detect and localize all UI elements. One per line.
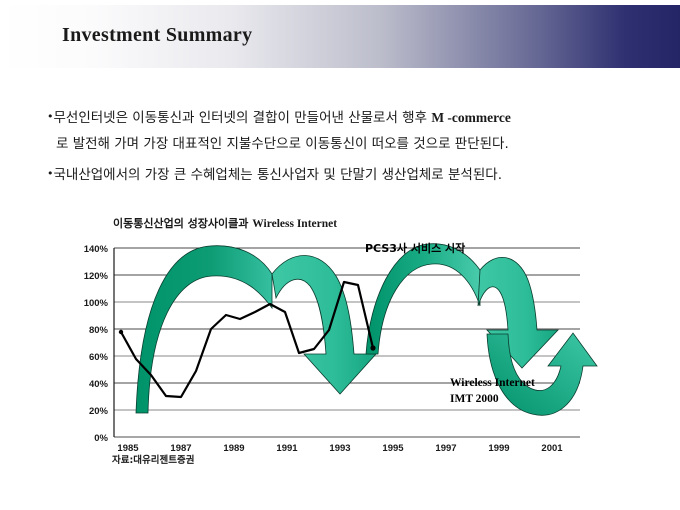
chart-y-tick-labels: 140% 120% 100% 80% 60% 40% 20% 0% (84, 244, 109, 444)
y-tick-label: 80% (89, 325, 109, 336)
x-tick-label: 1993 (329, 443, 350, 454)
y-tick-label: 40% (89, 379, 109, 390)
bullet-item: •무선인터넷은 이동통신과 인터넷의 결합이 만들어낸 산물로서 행후 M -c… (47, 104, 647, 157)
y-tick-label: 0% (94, 433, 108, 444)
y-tick-label: 20% (89, 406, 109, 417)
growth-cycle-chart: 140% 120% 100% 80% 60% 40% 20% 0% (0, 208, 680, 478)
growth-arrow-up-2 (366, 244, 480, 354)
y-tick-label: 100% (84, 298, 109, 309)
x-tick-label: 1991 (276, 443, 298, 454)
x-tick-label: 1989 (223, 443, 244, 454)
annotation-imt2000: IMT 2000 (450, 393, 499, 405)
x-tick-label: 1995 (382, 443, 404, 454)
annotation-pcs3: PCS3사 서비스 시작 (365, 241, 465, 255)
y-tick-label: 120% (84, 271, 109, 282)
chart-block: 이동통신산업의 성장사이클과 Wireless Internet (0, 208, 680, 478)
bullet-list: •무선인터넷은 이동통신과 인터넷의 결합이 만들어낸 산물로서 행후 M -c… (47, 104, 647, 192)
x-tick-label: 1997 (435, 443, 456, 454)
y-tick-label: 140% (84, 244, 109, 255)
line-start-point (119, 330, 123, 334)
bullet-item: •국내산업에서의 가장 큰 수혜업체는 통신사업자 및 단말기 생산업체로 분석… (47, 161, 647, 188)
x-tick-label: 2001 (541, 443, 563, 454)
page-title: Investment Summary (62, 24, 252, 47)
bullet-text-line1: 무선인터넷은 이동통신과 인터넷의 결합이 만들어낸 산물로서 행후 (54, 110, 432, 126)
growth-arrow-down-1 (272, 255, 376, 394)
line-end-point (370, 345, 375, 350)
chart-source-note: 자료:대유리젠트증권 (112, 452, 194, 466)
annotation-wireless-internet: Wireless Internet (450, 377, 535, 389)
y-tick-label: 60% (89, 352, 109, 363)
bullet-emphasis: M -commerce (431, 110, 511, 125)
x-tick-label: 1999 (488, 443, 509, 454)
bullet-text-line2: 로 발전해 가며 가장 대표적인 지불수단으로 이동통신이 떠오를 것으로 판단… (56, 136, 509, 152)
bullet-text-line1: 국내산업에서의 가장 큰 수혜업체는 통신사업자 및 단말기 생산업체로 분석된… (54, 167, 502, 183)
